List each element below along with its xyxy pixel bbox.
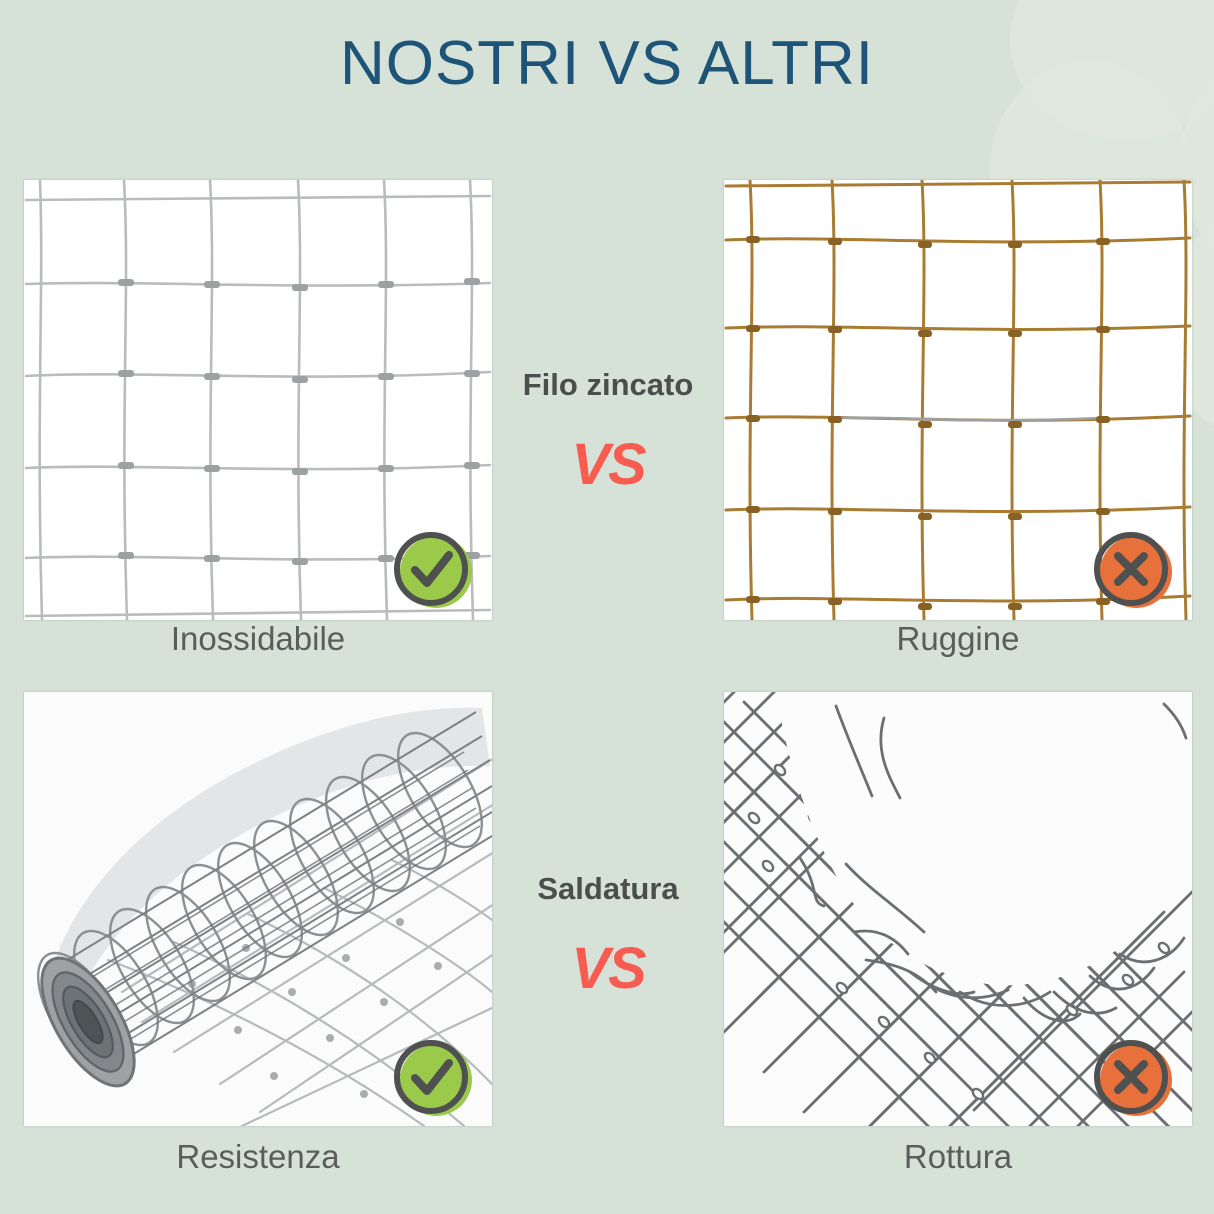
caption-theirs-1: Ruggine xyxy=(724,620,1192,658)
status-badge-bad xyxy=(1090,528,1176,614)
cross-icon xyxy=(1090,528,1176,614)
comparison-divider-2: Saldatura VS xyxy=(492,872,724,998)
page-title: NOSTRI VS ALTRI xyxy=(0,28,1214,99)
status-badge-bad xyxy=(1090,1036,1176,1122)
vs-label-2: VS xyxy=(492,940,724,998)
caption-ours-1: Inossidabile xyxy=(24,620,492,658)
check-icon xyxy=(390,1036,476,1122)
vs-label-1: VS xyxy=(492,436,724,494)
comparison-divider-1: Filo zincato VS xyxy=(492,368,724,494)
infographic-canvas: NOSTRI VS ALTRI xyxy=(0,0,1214,1214)
caption-theirs-2: Rottura xyxy=(724,1138,1192,1176)
caption-ours-2: Resistenza xyxy=(24,1138,492,1176)
check-icon xyxy=(390,528,476,614)
status-badge-good xyxy=(390,1036,476,1122)
feature-label-2: Saldatura xyxy=(492,872,724,906)
cross-icon xyxy=(1090,1036,1176,1122)
status-badge-good xyxy=(390,528,476,614)
feature-label-1: Filo zincato xyxy=(492,368,724,402)
